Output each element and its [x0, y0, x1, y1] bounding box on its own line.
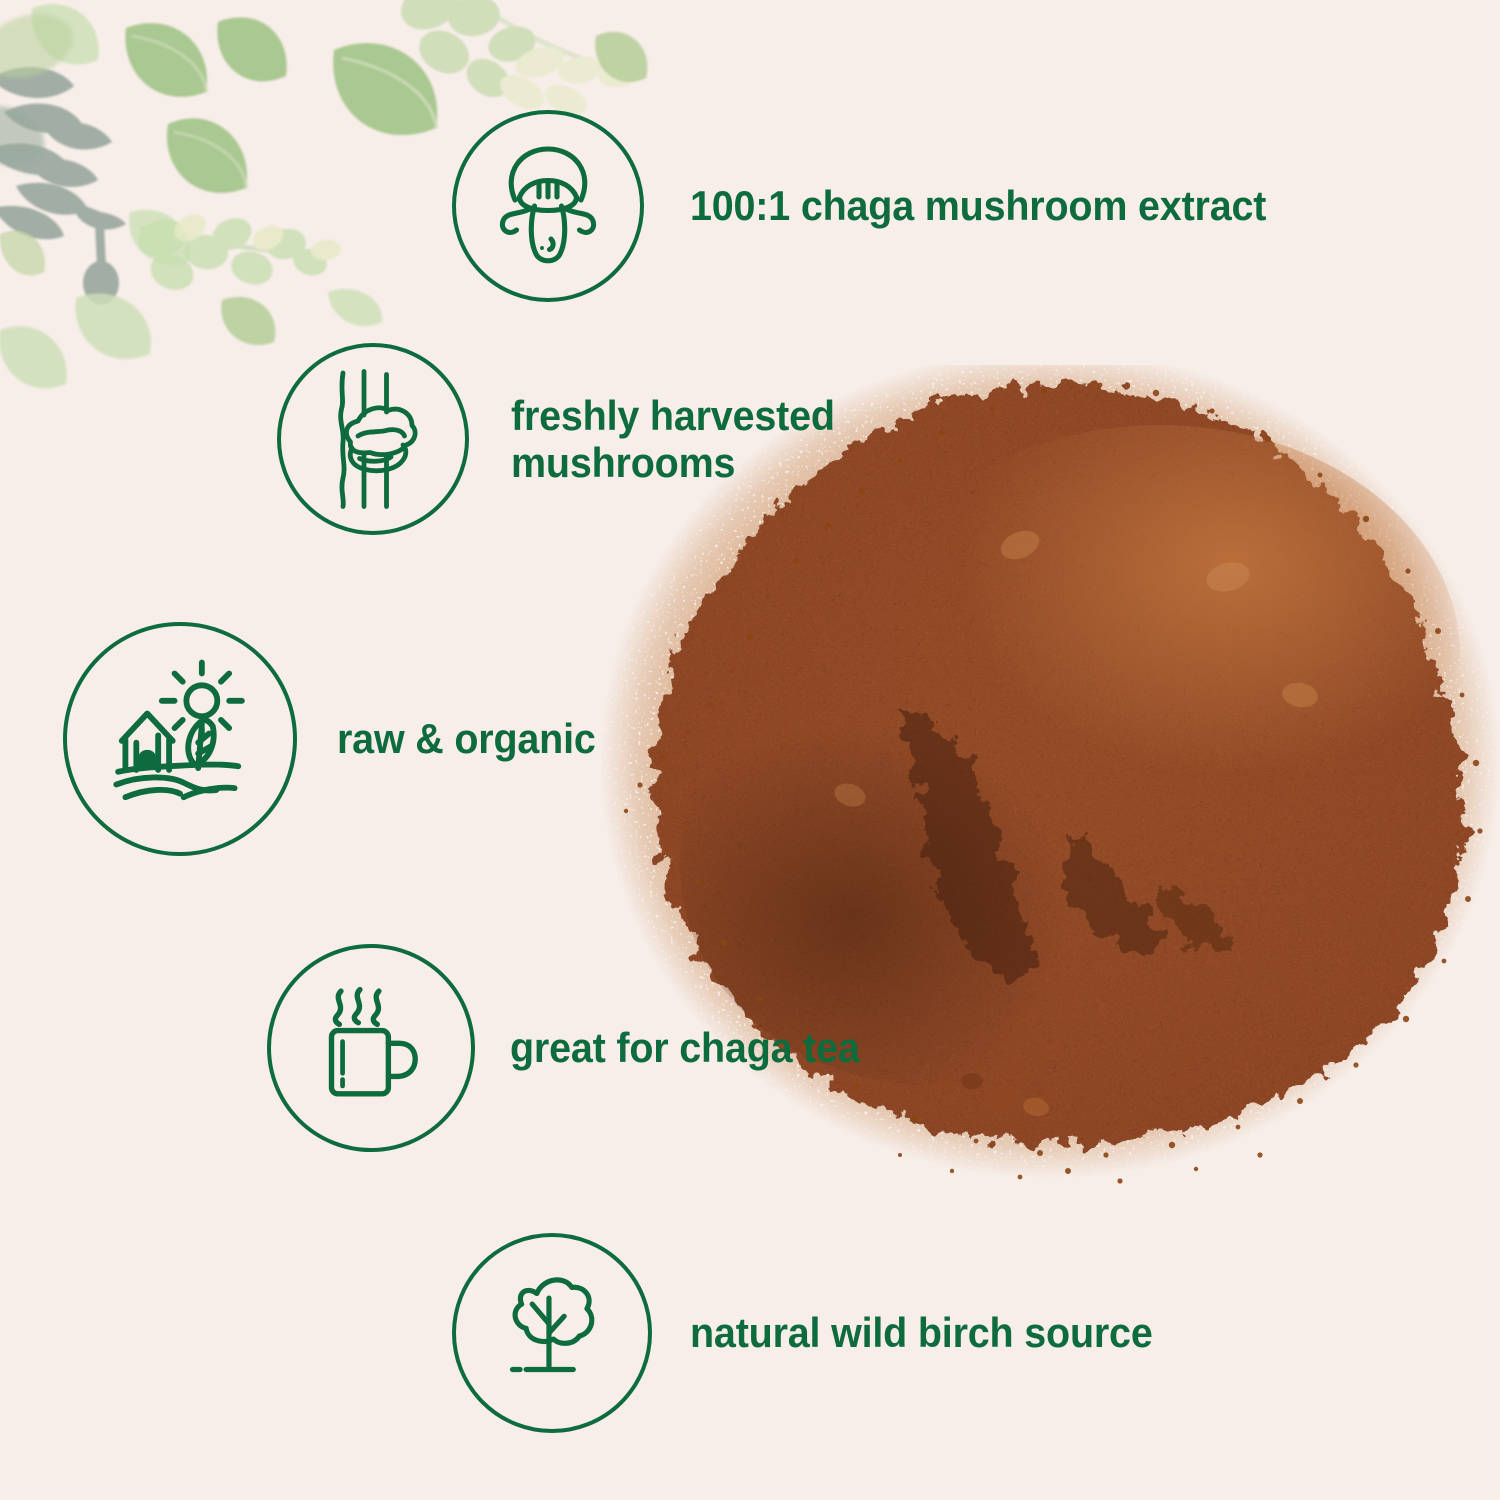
feature-row-0: 100:1 chaga mushroom extract [452, 110, 1303, 302]
mushroom-icon-badge [452, 110, 644, 302]
steaming-mug-icon-badge [267, 944, 475, 1152]
chaga-on-birch-icon [298, 364, 448, 514]
chaga-on-birch-icon-badge [277, 343, 469, 535]
feature-row-4: natural wild birch source [452, 1233, 1182, 1433]
product-feature-infographic: 100:1 chaga mushroom extract freshly har… [0, 0, 1500, 1500]
feature-label-1: freshly harvested mushrooms [511, 392, 835, 486]
farm-sun-leaf-icon [89, 648, 271, 830]
feature-row-2: raw & organic [63, 622, 612, 856]
tree-icon [476, 1257, 628, 1409]
feature-row-3: great for chaga tea [267, 944, 882, 1152]
feature-row-1: freshly harvested mushrooms [277, 343, 855, 535]
tree-icon-badge [452, 1233, 652, 1433]
feature-label-3: great for chaga tea [510, 1024, 860, 1071]
feature-label-2: raw & organic [337, 715, 596, 762]
mushroom-icon [473, 131, 623, 281]
feature-label-4: natural wild birch source [690, 1309, 1153, 1356]
farm-sun-leaf-icon-badge [63, 622, 297, 856]
feature-label-0: 100:1 chaga mushroom extract [690, 182, 1266, 229]
steaming-mug-icon [292, 969, 450, 1127]
